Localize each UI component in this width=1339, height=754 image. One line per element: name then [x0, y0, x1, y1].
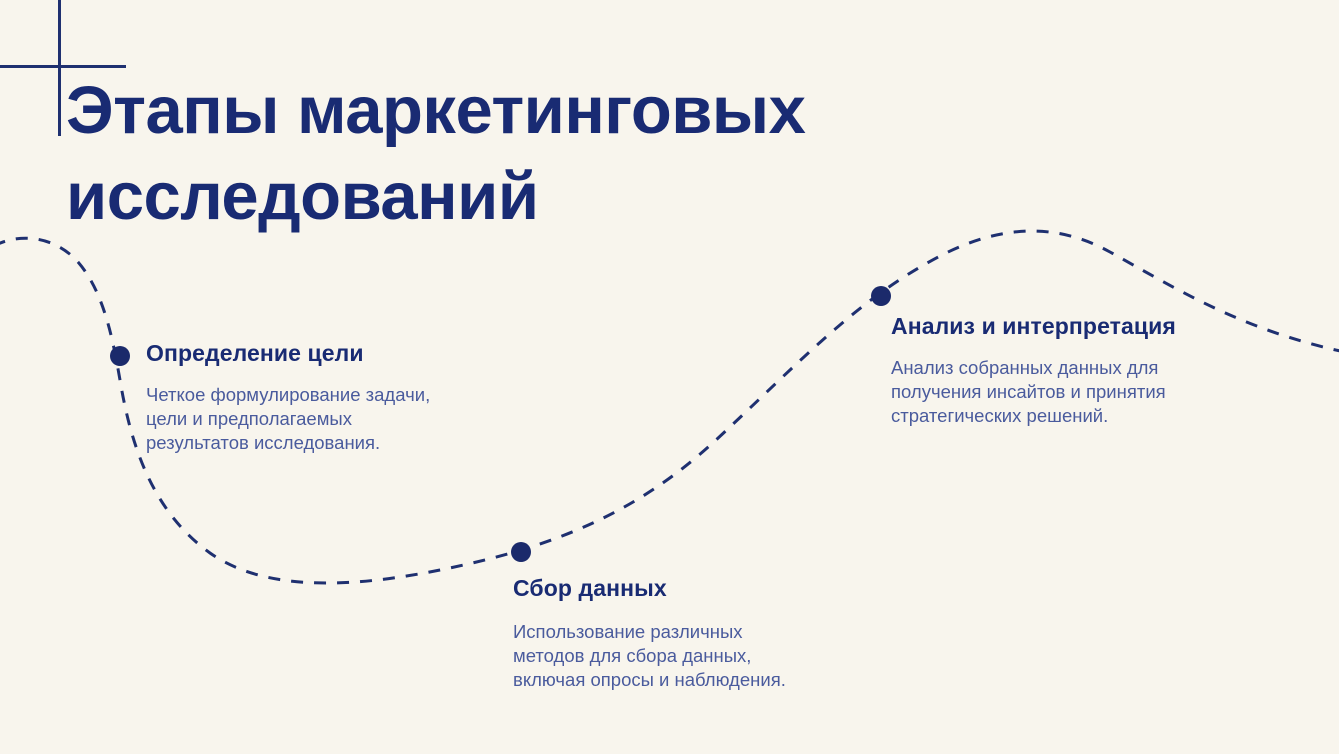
- milestone-dot-goal[interactable]: [110, 346, 130, 366]
- crosshair-vertical-line: [58, 0, 61, 136]
- milestone-dot-analysis[interactable]: [871, 286, 891, 306]
- step-description-analysis: Анализ собранных данных для получения ин…: [891, 356, 1261, 428]
- milestone-dot-data[interactable]: [511, 542, 531, 562]
- step-title-goal: Определение цели: [146, 340, 506, 367]
- step-title-data: Сбор данных: [513, 575, 873, 602]
- step-title-analysis: Анализ и интерпретация: [891, 313, 1261, 340]
- step-block-data: Сбор данных Использование различных мето…: [513, 575, 873, 692]
- page-title: Этапы маркетинговых исследований: [66, 68, 1026, 240]
- step-description-goal: Четкое формулирование задачи, цели и пре…: [146, 383, 506, 455]
- step-block-analysis: Анализ и интерпретация Анализ собранных …: [891, 313, 1261, 428]
- slide-canvas: Этапы маркетинговых исследований Определ…: [0, 0, 1339, 754]
- step-block-goal: Определение цели Четкое формулирование з…: [146, 340, 506, 455]
- step-description-data: Использование различных методов для сбор…: [513, 620, 873, 692]
